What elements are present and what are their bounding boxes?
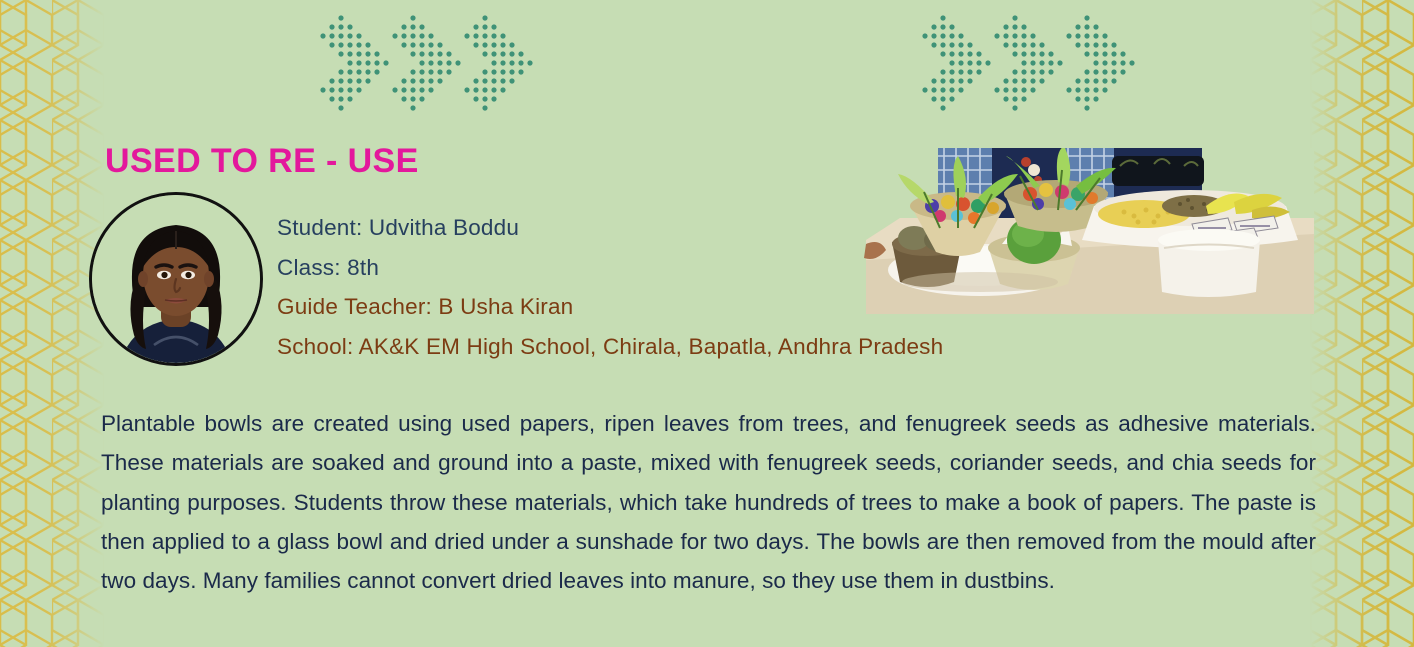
left-lattice-border-decoration <box>0 0 104 647</box>
right-lattice-border-decoration <box>1310 0 1414 647</box>
dotted-chevron-group-right <box>912 14 1142 114</box>
poster-title: USED TO RE - USE <box>105 142 419 181</box>
school-line: School: AK&K EM High School, Chirala, Ba… <box>277 327 1097 367</box>
student-portrait-avatar <box>89 192 263 366</box>
project-photo <box>862 148 1314 314</box>
poster-card: USED TO RE - USE <box>0 0 1414 647</box>
dotted-chevron-group-left <box>310 14 540 114</box>
project-description-paragraph: Plantable bowls are created using used p… <box>101 404 1316 600</box>
